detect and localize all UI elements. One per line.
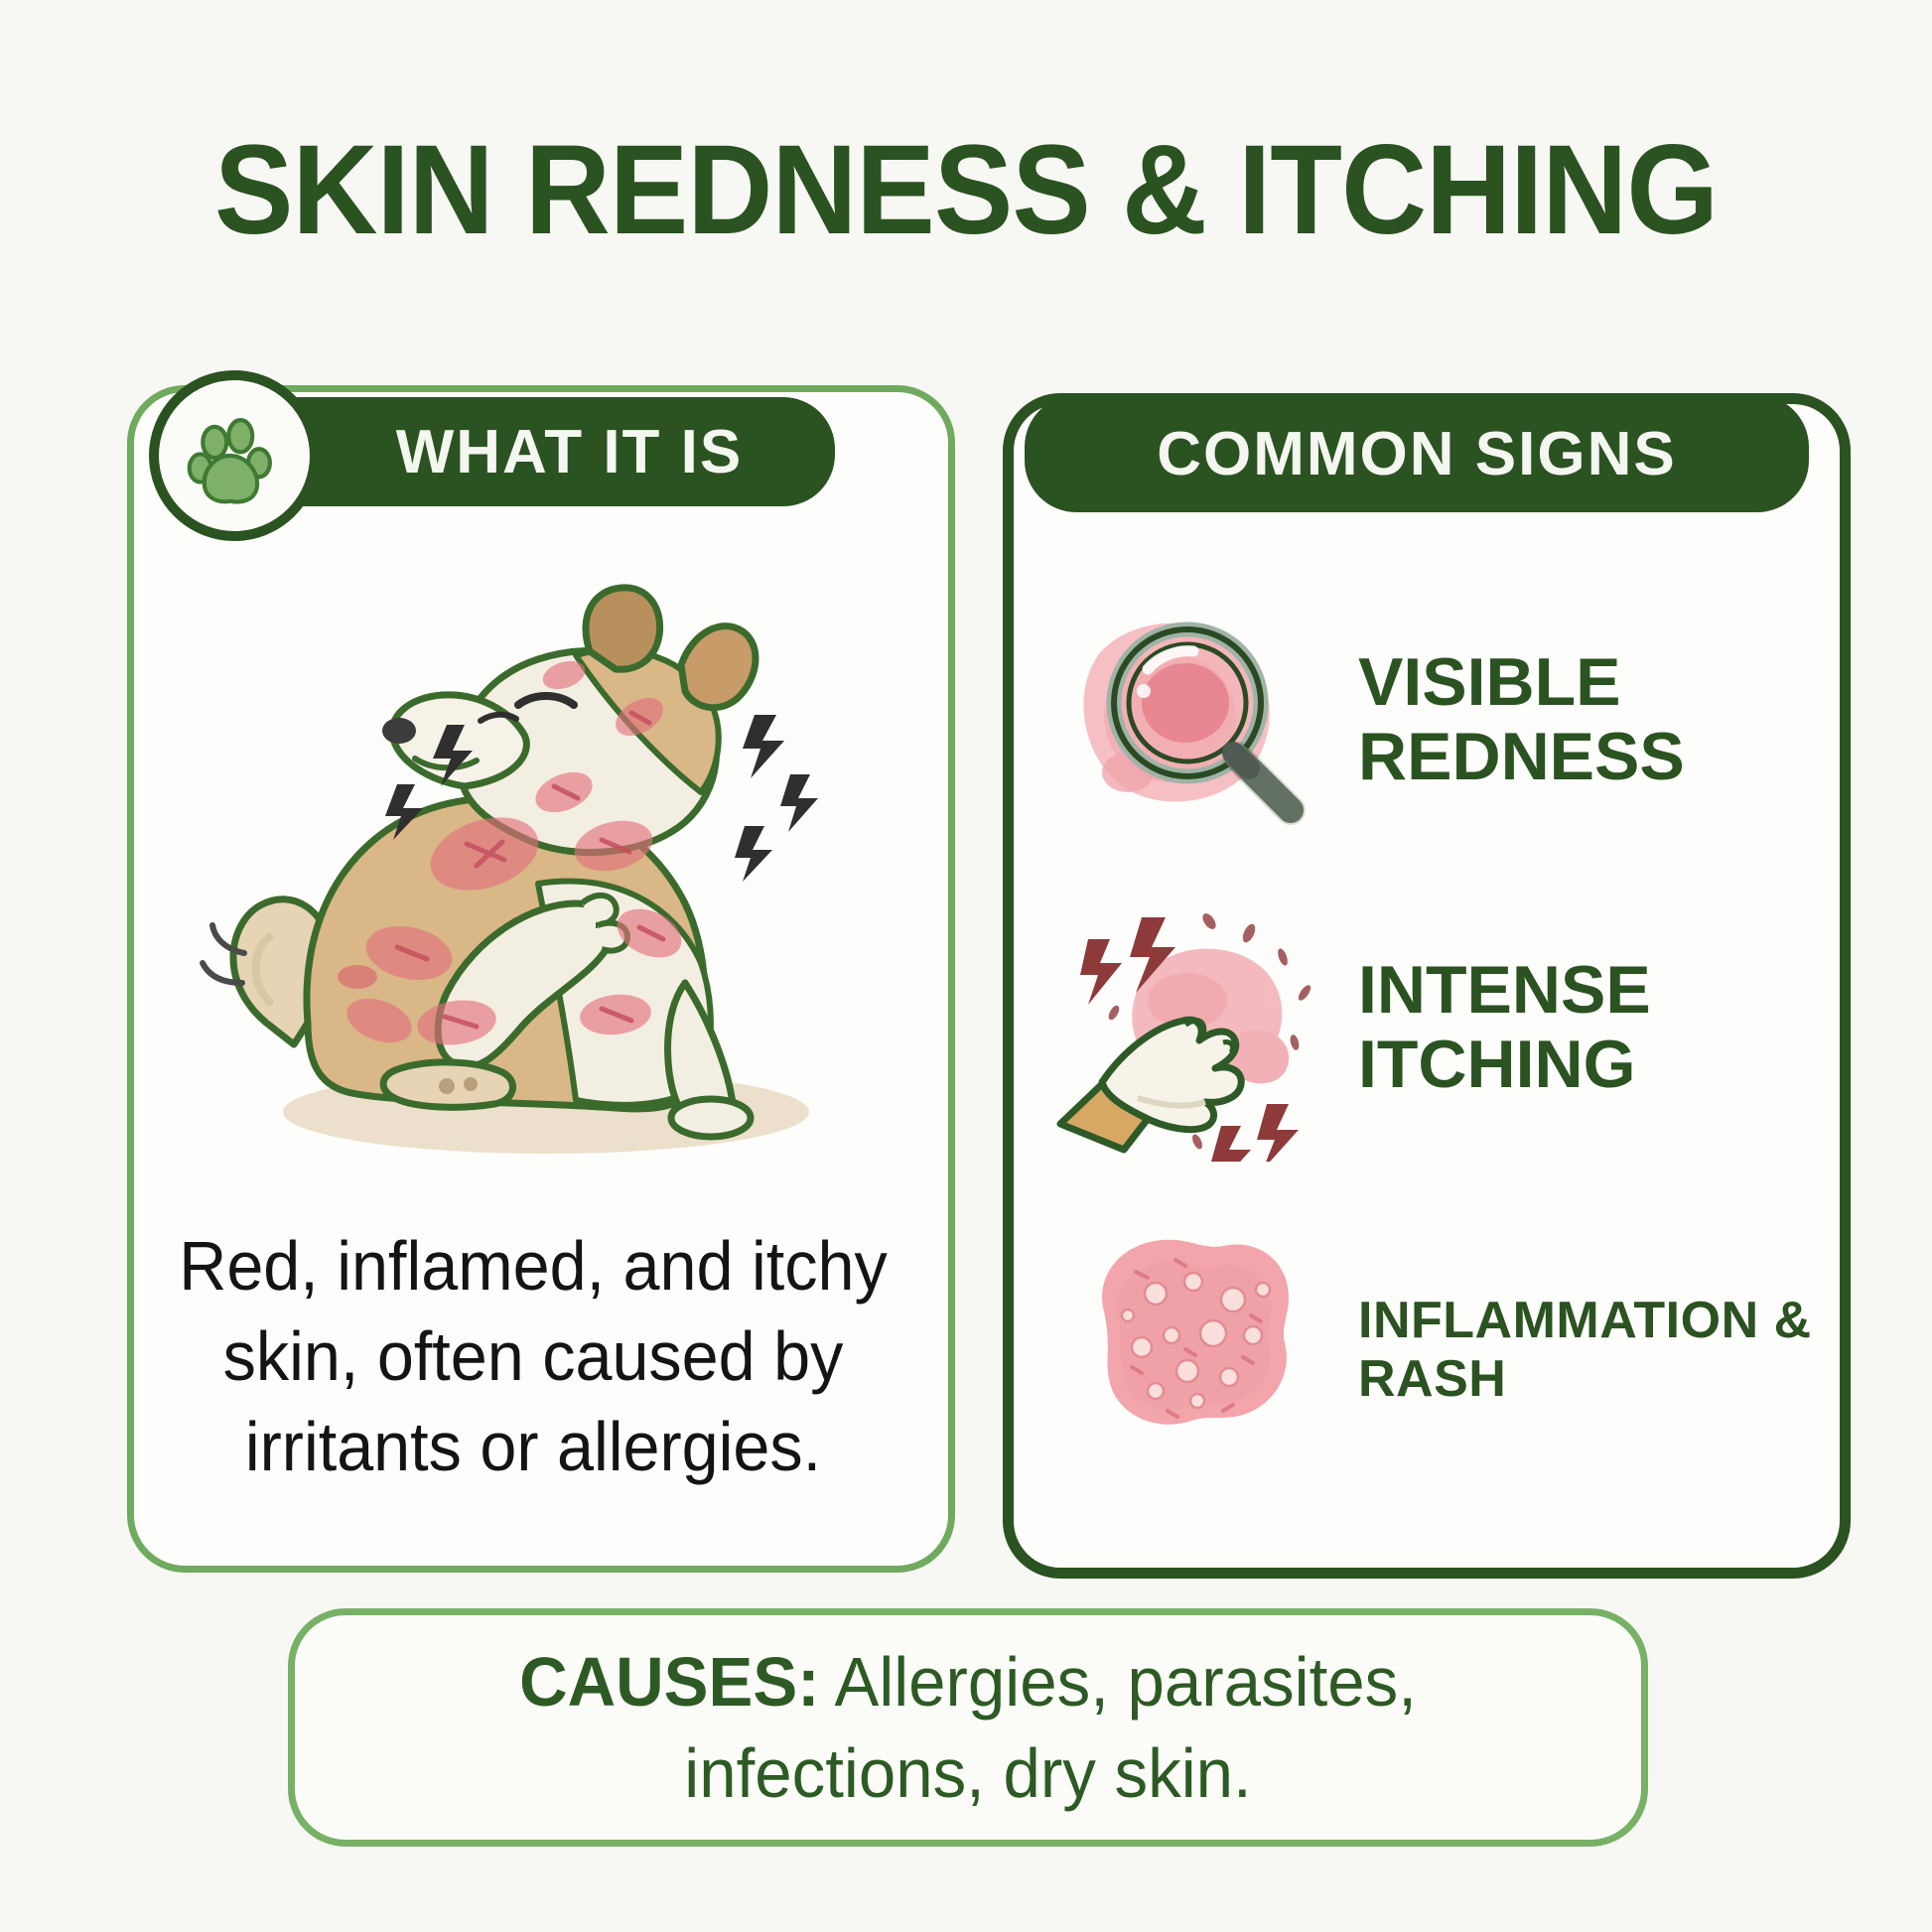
magnifier-over-redness-icon [1038, 586, 1336, 854]
dog-scratching-icon [149, 556, 923, 1191]
paw-icon [149, 370, 320, 541]
causes-bar: CAUSES: Allergies, parasites, infections… [288, 1608, 1648, 1847]
causes-text: CAUSES: Allergies, parasites, infections… [322, 1636, 1614, 1820]
what-it-is-header-label: WHAT IT IS [396, 417, 743, 487]
sign-label: VISIBLE REDNESS [1358, 645, 1813, 794]
sign-label: INTENSE ITCHING [1358, 953, 1813, 1102]
page-title: SKIN REDNESS & ITCHING [68, 127, 1864, 254]
common-signs-header-label: COMMON SIGNS [1157, 419, 1676, 489]
rash-blotch-icon [1038, 1216, 1336, 1484]
sign-row: VISIBLE REDNESS [1038, 576, 1813, 864]
causes-prefix: CAUSES: [519, 1643, 819, 1721]
what-it-is-description: Red, inflamed, and itchy skin, often cau… [170, 1221, 897, 1492]
sign-label: INFLAMMATION & RASH [1358, 1292, 1813, 1410]
common-signs-header: COMMON SIGNS [1025, 395, 1809, 512]
sign-row: INFLAMMATION & RASH [1038, 1206, 1813, 1494]
sign-row: INTENSE ITCHING [1038, 884, 1813, 1172]
scratching-paw-icon [1038, 894, 1336, 1162]
